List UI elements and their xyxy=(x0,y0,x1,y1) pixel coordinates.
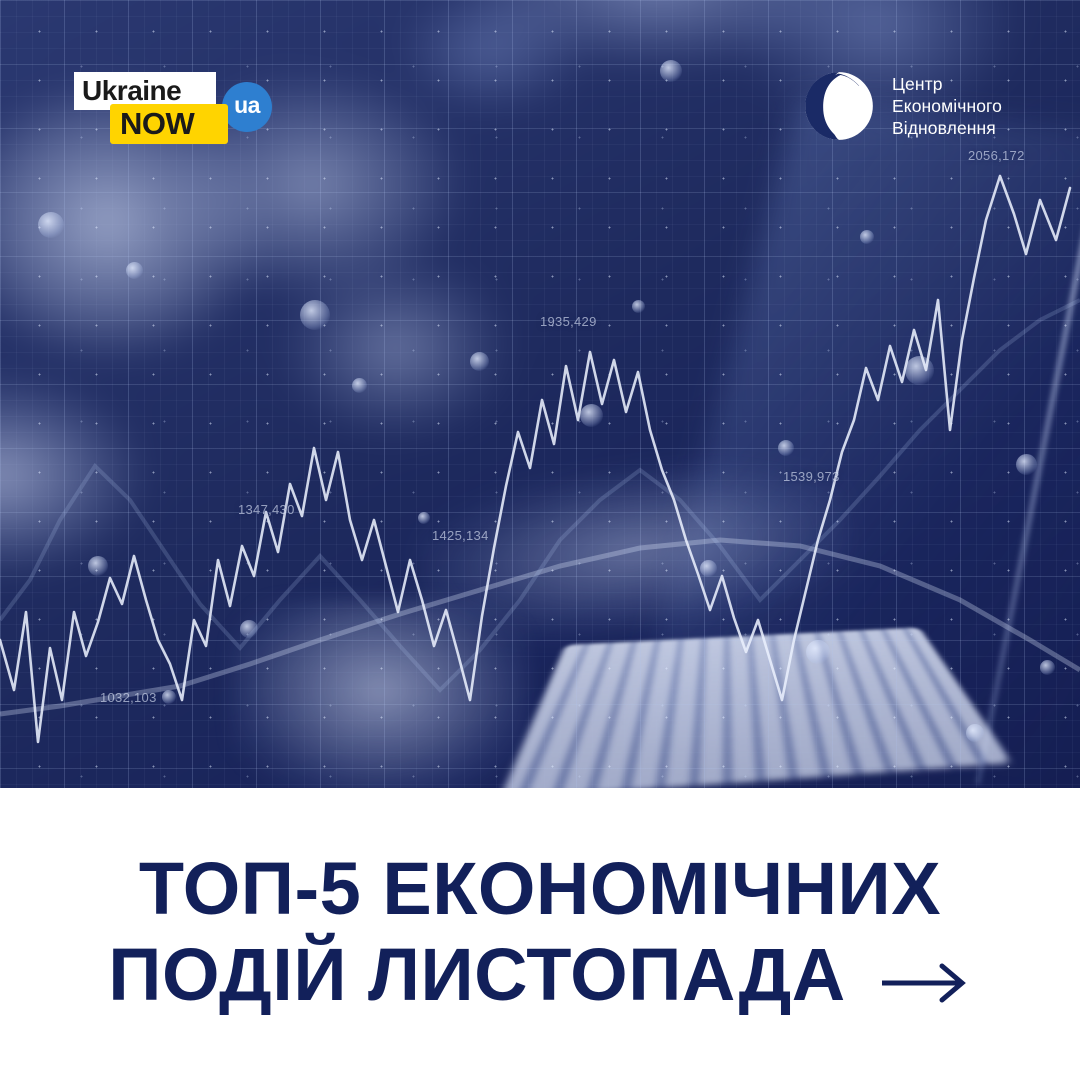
page-title-line-1: ТОП-5 ЕКОНОМІЧНИХ xyxy=(0,850,1080,928)
cer-logo-text: Центр Економічного Відновлення xyxy=(892,73,1002,139)
ukraine-now-logo[interactable]: Ukraine ua NOW xyxy=(74,72,284,148)
ukraine-now-line1: Ukraine xyxy=(82,74,181,108)
ukraine-now-yellow-plate: NOW xyxy=(110,104,228,144)
chart-series-secondary xyxy=(0,540,1080,714)
chart-value-label: 2056,172 xyxy=(968,148,1025,163)
arrow-right-icon[interactable] xyxy=(880,963,972,1003)
ukraine-now-badge-label: ua xyxy=(222,82,272,132)
cer-line-3: Відновлення xyxy=(892,117,1002,139)
chart-value-label: 1347,430 xyxy=(238,502,295,517)
cer-line-2: Економічного xyxy=(892,95,1002,117)
page-title-line-2: ПОДІЙ ЛИСТОПАДА xyxy=(108,936,845,1014)
chart-value-label: 1539,973 xyxy=(783,469,840,484)
hero-image: 1032,103 1347,430 1425,134 1539,973 1935… xyxy=(0,0,1080,788)
cer-line-1: Центр xyxy=(892,73,1002,95)
ukraine-now-ua-badge: ua xyxy=(222,82,272,132)
chart-value-label: 1935,429 xyxy=(540,314,597,329)
chart-value-label: 1425,134 xyxy=(432,528,489,543)
cer-logo[interactable]: Центр Економічного Відновлення xyxy=(803,70,1002,142)
ukraine-now-line2: NOW xyxy=(120,105,194,143)
poster-canvas: 1032,103 1347,430 1425,134 1539,973 1935… xyxy=(0,0,1080,1080)
chart-series-ghost xyxy=(0,300,1080,690)
globe-swoosh-logo-icon xyxy=(803,70,875,142)
chart-series-primary xyxy=(0,176,1070,742)
chart-value-label: 1032,103 xyxy=(100,690,157,705)
title-block: ТОП-5 ЕКОНОМІЧНИХ ПОДІЙ ЛИСТОПАДА xyxy=(0,788,1080,1080)
page-title-line-2-row: ПОДІЙ ЛИСТОПАДА xyxy=(0,936,1080,1014)
